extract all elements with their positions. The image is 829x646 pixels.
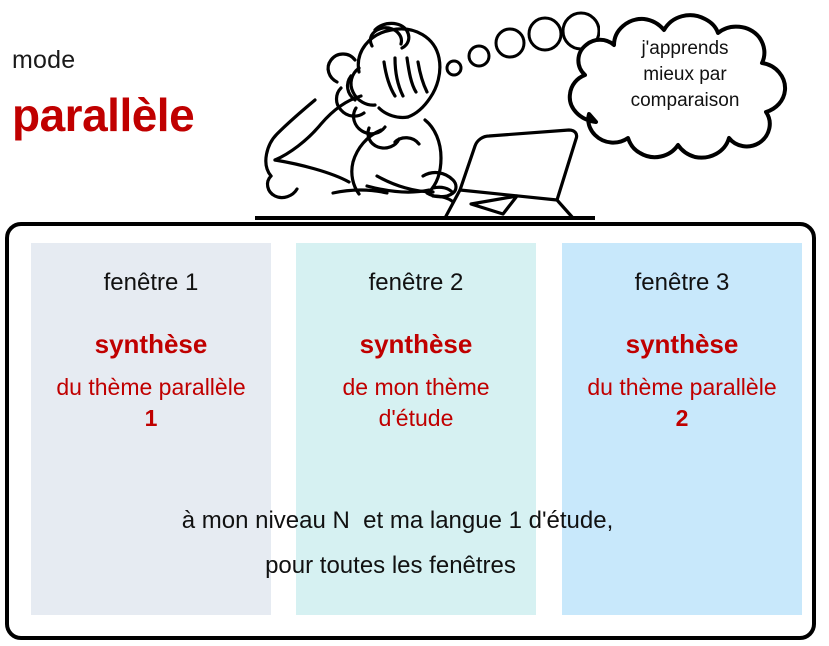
panel-3-window-label: fenêtre 3 bbox=[562, 268, 802, 298]
panel-1-content: fenêtre 1 synthèse du thème parallèle 1 bbox=[31, 243, 271, 434]
panel-3-synthese-label: synthèse bbox=[562, 328, 802, 360]
panel-1-window-label: fenêtre 1 bbox=[31, 268, 271, 298]
thought-line-3: comparaison bbox=[592, 88, 778, 114]
panel-1-synthese-label: synthèse bbox=[31, 328, 271, 360]
panel-fenetre-3[interactable]: fenêtre 3 synthèse du thème parallèle 2 bbox=[562, 243, 802, 615]
parallel-windows-container: fenêtre 1 synthèse du thème parallèle 1 … bbox=[5, 222, 816, 640]
mode-label: mode bbox=[12, 46, 75, 75]
mode-title: parallèle bbox=[12, 88, 194, 142]
panel-3-desc-text: du thème parallèle bbox=[587, 374, 776, 400]
panel-3-description: du thème parallèle 2 bbox=[562, 372, 802, 434]
panel-1-desc-text: du thème parallèle bbox=[56, 374, 245, 400]
panel-fenetre-2[interactable]: fenêtre 2 synthèse de mon thème d'étude bbox=[296, 243, 536, 615]
panel-1-description: du thème parallèle 1 bbox=[31, 372, 271, 434]
panel-2-desc-emph: d'étude bbox=[296, 403, 536, 434]
panel-1-desc-emph: 1 bbox=[31, 403, 271, 434]
thought-line-1: j'apprends bbox=[592, 36, 778, 62]
panel-2-content: fenêtre 2 synthèse de mon thème d'étude bbox=[296, 243, 536, 434]
panels-group: fenêtre 1 synthèse du thème parallèle 1 … bbox=[9, 226, 812, 636]
panel-3-content: fenêtre 3 synthèse du thème parallèle 2 bbox=[562, 243, 802, 434]
slide-root: mode parallèle bbox=[0, 0, 829, 646]
panel-2-window-label: fenêtre 2 bbox=[296, 268, 536, 298]
panel-2-synthese-label: synthèse bbox=[296, 328, 536, 360]
panel-2-desc-text: de mon thème bbox=[342, 374, 489, 400]
panel-fenetre-1[interactable]: fenêtre 1 synthèse du thème parallèle 1 bbox=[31, 243, 271, 615]
panel-3-desc-emph: 2 bbox=[562, 403, 802, 434]
thought-line-2: mieux par bbox=[592, 62, 778, 88]
panel-2-description: de mon thème d'étude bbox=[296, 372, 536, 434]
thought-bubble-text: j'apprends mieux par comparaison bbox=[592, 36, 778, 114]
header-block: mode parallèle bbox=[0, 0, 829, 218]
